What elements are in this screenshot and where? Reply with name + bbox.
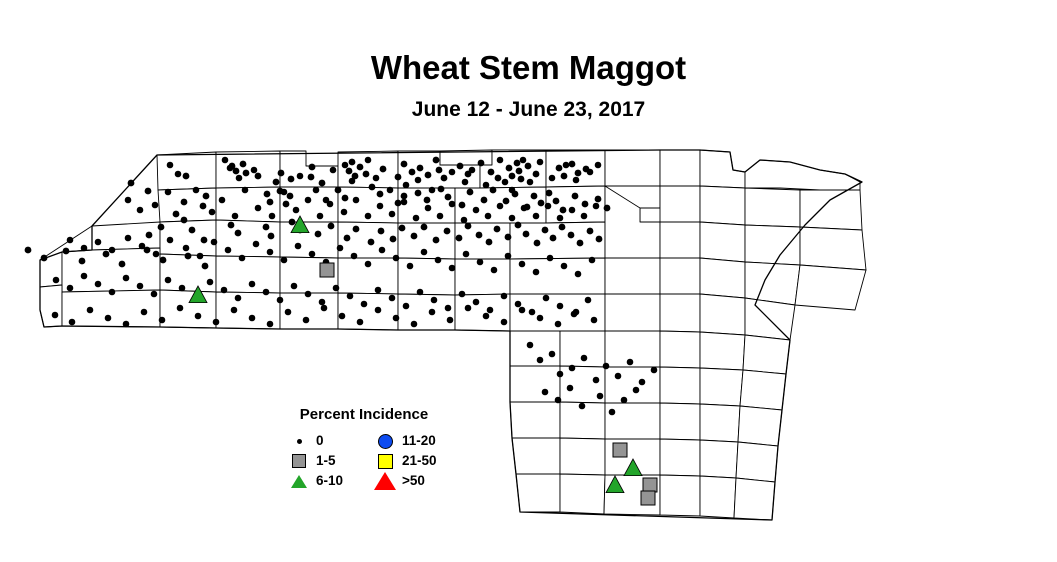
survey-point bbox=[393, 255, 400, 262]
legend-symbol-21-50 bbox=[368, 451, 402, 471]
survey-point bbox=[415, 177, 422, 184]
survey-point bbox=[222, 157, 229, 164]
survey-point bbox=[293, 207, 300, 214]
survey-point bbox=[538, 200, 545, 207]
survey-point bbox=[105, 315, 112, 322]
survey-point bbox=[567, 385, 574, 392]
survey-point bbox=[195, 313, 202, 320]
survey-point bbox=[235, 295, 242, 302]
survey-point bbox=[327, 201, 334, 208]
survey-point bbox=[495, 175, 502, 182]
legend-label-6-10: 6-10 bbox=[316, 474, 368, 488]
survey-point bbox=[569, 365, 576, 372]
survey-point bbox=[375, 287, 382, 294]
survey-point bbox=[545, 203, 552, 210]
survey-point bbox=[181, 217, 188, 224]
survey-point bbox=[342, 195, 349, 202]
survey-point bbox=[305, 197, 312, 204]
survey-point bbox=[572, 193, 579, 200]
legend-symbol-1-5 bbox=[282, 451, 316, 471]
survey-point bbox=[225, 247, 232, 254]
survey-point bbox=[200, 203, 207, 210]
survey-point bbox=[543, 295, 550, 302]
survey-point bbox=[213, 319, 220, 326]
survey-point bbox=[365, 213, 372, 220]
survey-point bbox=[550, 235, 557, 242]
states-county-map bbox=[0, 130, 1057, 562]
survey-point bbox=[425, 172, 432, 179]
survey-point bbox=[165, 277, 172, 284]
survey-point bbox=[389, 211, 396, 218]
survey-point bbox=[125, 197, 132, 204]
survey-point bbox=[95, 281, 102, 288]
survey-point bbox=[67, 237, 74, 244]
survey-point bbox=[185, 253, 192, 260]
survey-point bbox=[109, 247, 116, 254]
survey-point bbox=[393, 315, 400, 322]
survey-point bbox=[575, 170, 582, 177]
survey-point bbox=[249, 315, 256, 322]
survey-point bbox=[357, 319, 364, 326]
survey-point bbox=[236, 175, 243, 182]
survey-point bbox=[390, 236, 397, 243]
survey-point bbox=[267, 199, 274, 206]
survey-point bbox=[445, 305, 452, 312]
survey-point bbox=[553, 198, 560, 205]
survey-point bbox=[308, 174, 315, 181]
survey-point bbox=[473, 207, 480, 214]
survey-point bbox=[309, 251, 316, 258]
survey-point bbox=[519, 261, 526, 268]
survey-point bbox=[344, 235, 351, 242]
survey-point bbox=[363, 171, 370, 178]
survey-point bbox=[251, 167, 258, 174]
survey-point bbox=[357, 164, 364, 171]
survey-point bbox=[313, 187, 320, 194]
survey-point bbox=[346, 168, 353, 175]
survey-point bbox=[643, 478, 657, 492]
survey-point bbox=[604, 205, 611, 212]
survey-point bbox=[561, 263, 568, 270]
survey-point bbox=[639, 379, 646, 386]
survey-point bbox=[281, 189, 288, 196]
survey-point bbox=[413, 215, 420, 222]
survey-point bbox=[417, 289, 424, 296]
survey-point bbox=[309, 164, 316, 171]
survey-point bbox=[494, 226, 501, 233]
survey-point bbox=[321, 305, 328, 312]
survey-point bbox=[375, 307, 382, 314]
legend-symbol-11-20 bbox=[368, 431, 402, 451]
survey-point bbox=[449, 201, 456, 208]
survey-point bbox=[278, 170, 285, 177]
survey-point bbox=[209, 209, 216, 216]
survey-point bbox=[109, 289, 116, 296]
survey-point bbox=[137, 283, 144, 290]
survey-point bbox=[411, 233, 418, 240]
survey-point bbox=[365, 157, 372, 164]
survey-point bbox=[557, 215, 564, 222]
survey-point bbox=[491, 267, 498, 274]
survey-point bbox=[81, 273, 88, 280]
map-canvas bbox=[0, 130, 1057, 562]
survey-point bbox=[505, 253, 512, 260]
survey-point bbox=[197, 253, 204, 260]
survey-point bbox=[87, 307, 94, 314]
survey-point bbox=[123, 275, 130, 282]
survey-point bbox=[175, 171, 182, 178]
survey-point bbox=[128, 180, 135, 187]
survey-point bbox=[380, 166, 387, 173]
survey-point bbox=[509, 187, 516, 194]
survey-point bbox=[542, 389, 549, 396]
survey-point bbox=[339, 313, 346, 320]
survey-point bbox=[573, 309, 580, 316]
survey-point bbox=[53, 277, 60, 284]
survey-point bbox=[333, 285, 340, 292]
survey-point bbox=[373, 175, 380, 182]
survey-point bbox=[527, 179, 534, 186]
survey-point bbox=[417, 165, 424, 172]
survey-point bbox=[595, 162, 602, 169]
survey-point bbox=[337, 245, 344, 252]
survey-point bbox=[424, 197, 431, 204]
survey-point bbox=[283, 201, 290, 208]
survey-point bbox=[537, 357, 544, 364]
survey-point bbox=[377, 191, 384, 198]
survey-point bbox=[509, 215, 516, 222]
survey-point bbox=[447, 317, 454, 324]
survey-point bbox=[151, 291, 158, 298]
survey-point bbox=[582, 201, 589, 208]
survey-point bbox=[505, 234, 512, 241]
survey-point bbox=[433, 157, 440, 164]
survey-point bbox=[465, 223, 472, 230]
survey-point bbox=[533, 171, 540, 178]
survey-point bbox=[264, 191, 271, 198]
survey-point bbox=[69, 319, 76, 326]
survey-point bbox=[179, 285, 186, 292]
survey-point bbox=[165, 189, 172, 196]
survey-point bbox=[559, 224, 566, 231]
survey-point bbox=[243, 170, 250, 177]
survey-point bbox=[347, 293, 354, 300]
survey-point bbox=[203, 193, 210, 200]
survey-point bbox=[547, 255, 554, 262]
survey-point bbox=[575, 271, 582, 278]
survey-point bbox=[555, 397, 562, 404]
survey-point bbox=[255, 205, 262, 212]
survey-point bbox=[273, 179, 280, 186]
survey-point bbox=[431, 297, 438, 304]
survey-point bbox=[160, 257, 167, 264]
survey-point bbox=[255, 173, 262, 180]
survey-point bbox=[95, 239, 102, 246]
survey-point bbox=[449, 169, 456, 176]
legend-title: Percent Incidence bbox=[284, 406, 444, 423]
survey-point bbox=[497, 157, 504, 164]
survey-point bbox=[581, 355, 588, 362]
green-triangle-icon bbox=[291, 475, 307, 488]
survey-point bbox=[351, 253, 358, 260]
survey-point bbox=[436, 167, 443, 174]
survey-point bbox=[477, 259, 484, 266]
survey-point bbox=[563, 162, 570, 169]
survey-point bbox=[407, 263, 414, 270]
legend-symbol-6-10 bbox=[282, 471, 316, 491]
survey-point bbox=[595, 196, 602, 203]
survey-point bbox=[549, 175, 556, 182]
survey-point bbox=[593, 203, 600, 210]
survey-point bbox=[527, 342, 534, 349]
survey-point bbox=[328, 223, 335, 230]
survey-point bbox=[365, 261, 372, 268]
page-title: Wheat Stem Maggot bbox=[0, 50, 1057, 86]
survey-point bbox=[287, 193, 294, 200]
survey-point bbox=[437, 213, 444, 220]
survey-point bbox=[581, 213, 588, 220]
survey-point bbox=[485, 213, 492, 220]
survey-point bbox=[183, 173, 190, 180]
survey-point bbox=[497, 203, 504, 210]
survey-point bbox=[542, 227, 549, 234]
survey-point bbox=[478, 160, 485, 167]
survey-point bbox=[139, 243, 146, 250]
black-dot-icon bbox=[297, 439, 302, 444]
survey-point bbox=[549, 351, 556, 358]
legend-label-1-5: 1-5 bbox=[316, 454, 368, 468]
survey-point bbox=[521, 205, 528, 212]
survey-point bbox=[67, 285, 74, 292]
survey-point bbox=[232, 213, 239, 220]
survey-point bbox=[534, 240, 541, 247]
survey-point bbox=[435, 257, 442, 264]
survey-point bbox=[473, 299, 480, 306]
survey-point bbox=[201, 237, 208, 244]
survey-point bbox=[560, 207, 567, 214]
survey-point bbox=[490, 187, 497, 194]
survey-point bbox=[281, 257, 288, 264]
survey-point bbox=[409, 169, 416, 176]
legend-label-gt50: >50 bbox=[402, 474, 452, 488]
survey-point bbox=[349, 159, 356, 166]
survey-point bbox=[159, 317, 166, 324]
survey-point bbox=[516, 168, 523, 175]
survey-point bbox=[509, 173, 516, 180]
survey-point bbox=[295, 243, 302, 250]
survey-point bbox=[167, 162, 174, 169]
survey-point bbox=[267, 321, 274, 328]
survey-point bbox=[487, 307, 494, 314]
survey-point bbox=[303, 317, 310, 324]
survey-point bbox=[189, 227, 196, 234]
survey-point bbox=[221, 287, 228, 294]
survey-point bbox=[533, 213, 540, 220]
survey-point bbox=[399, 225, 406, 232]
survey-point bbox=[228, 222, 235, 229]
survey-point bbox=[429, 187, 436, 194]
survey-point bbox=[476, 232, 483, 239]
survey-point bbox=[488, 169, 495, 176]
survey-point bbox=[621, 397, 628, 404]
survey-point bbox=[531, 193, 538, 200]
survey-point bbox=[403, 182, 410, 189]
survey-point bbox=[319, 180, 326, 187]
survey-point bbox=[615, 373, 622, 380]
survey-point bbox=[81, 245, 88, 252]
survey-point bbox=[369, 184, 376, 191]
survey-point bbox=[444, 228, 451, 235]
survey-point bbox=[202, 263, 209, 270]
survey-point bbox=[227, 165, 234, 172]
survey-point bbox=[379, 247, 386, 254]
survey-point bbox=[587, 169, 594, 176]
survey-point bbox=[573, 177, 580, 184]
survey-point bbox=[469, 167, 476, 174]
survey-point bbox=[267, 249, 274, 256]
survey-point bbox=[462, 179, 469, 186]
survey-point bbox=[341, 209, 348, 216]
survey-point bbox=[349, 178, 356, 185]
survey-point bbox=[441, 175, 448, 182]
survey-point bbox=[378, 228, 385, 235]
survey-point bbox=[235, 230, 242, 237]
survey-point bbox=[633, 387, 640, 394]
survey-point bbox=[240, 161, 247, 168]
survey-point bbox=[219, 197, 226, 204]
survey-point bbox=[425, 205, 432, 212]
survey-point bbox=[315, 231, 322, 238]
survey-point bbox=[593, 377, 600, 384]
survey-point bbox=[389, 295, 396, 302]
survey-point bbox=[231, 307, 238, 314]
survey-point bbox=[461, 217, 468, 224]
survey-point bbox=[233, 168, 240, 175]
survey-point bbox=[463, 251, 470, 258]
survey-point bbox=[289, 219, 296, 226]
survey-point bbox=[368, 239, 375, 246]
survey-point bbox=[291, 283, 298, 290]
survey-point bbox=[253, 241, 260, 248]
survey-point bbox=[486, 239, 493, 246]
survey-point bbox=[515, 222, 522, 229]
survey-point bbox=[403, 303, 410, 310]
survey-point bbox=[211, 239, 218, 246]
survey-point bbox=[207, 279, 214, 286]
survey-point bbox=[596, 236, 603, 243]
survey-point bbox=[285, 309, 292, 316]
yellow-square-icon bbox=[378, 454, 393, 469]
survey-point bbox=[481, 197, 488, 204]
survey-point bbox=[603, 363, 610, 370]
survey-point bbox=[523, 231, 530, 238]
survey-point bbox=[483, 313, 490, 320]
survey-point bbox=[557, 371, 564, 378]
survey-point bbox=[568, 232, 575, 239]
survey-point bbox=[533, 269, 540, 276]
survey-point bbox=[537, 159, 544, 166]
survey-point bbox=[514, 160, 521, 167]
gray-square-icon bbox=[292, 454, 306, 468]
survey-point bbox=[555, 321, 562, 328]
survey-point bbox=[395, 174, 402, 181]
survey-point bbox=[445, 194, 452, 201]
survey-point bbox=[125, 235, 132, 242]
survey-point bbox=[483, 182, 490, 189]
survey-point bbox=[537, 315, 544, 322]
survey-point bbox=[177, 305, 184, 312]
survey-point bbox=[529, 309, 536, 316]
survey-point bbox=[627, 359, 634, 366]
legend-label-0: 0 bbox=[316, 434, 368, 448]
survey-point bbox=[342, 162, 349, 169]
survey-point bbox=[395, 200, 402, 207]
survey-point bbox=[146, 232, 153, 239]
survey-point bbox=[585, 297, 592, 304]
blue-circle-icon bbox=[378, 434, 393, 449]
survey-point bbox=[525, 163, 532, 170]
survey-point bbox=[361, 301, 368, 308]
survey-point bbox=[561, 173, 568, 180]
survey-point bbox=[421, 224, 428, 231]
survey-point bbox=[520, 157, 527, 164]
survey-point bbox=[269, 213, 276, 220]
legend-label-21-50: 21-50 bbox=[402, 454, 452, 468]
survey-point bbox=[401, 199, 408, 206]
survey-point bbox=[546, 190, 553, 197]
survey-point bbox=[63, 248, 70, 255]
survey-point bbox=[320, 263, 334, 277]
survey-point bbox=[569, 161, 576, 168]
survey-point bbox=[589, 257, 596, 264]
survey-point bbox=[353, 197, 360, 204]
survey-point bbox=[421, 249, 428, 256]
survey-point bbox=[587, 228, 594, 235]
survey-point bbox=[145, 188, 152, 195]
survey-point bbox=[335, 187, 342, 194]
survey-point bbox=[242, 187, 249, 194]
survey-point bbox=[173, 211, 180, 218]
survey-point bbox=[297, 173, 304, 180]
survey-point bbox=[518, 176, 525, 183]
survey-point bbox=[377, 203, 384, 210]
survey-point bbox=[641, 491, 655, 505]
survey-point bbox=[183, 245, 190, 252]
red-triangle-icon bbox=[374, 472, 396, 490]
survey-point bbox=[591, 317, 598, 324]
survey-point bbox=[158, 224, 165, 231]
survey-point bbox=[119, 261, 126, 268]
survey-point bbox=[41, 255, 48, 262]
survey-point bbox=[438, 186, 445, 193]
survey-point bbox=[501, 319, 508, 326]
survey-point bbox=[387, 187, 394, 194]
survey-point bbox=[239, 255, 246, 262]
survey-point bbox=[465, 305, 472, 312]
survey-point bbox=[411, 321, 418, 328]
survey-point bbox=[429, 309, 436, 316]
survey-point bbox=[167, 237, 174, 244]
survey-point bbox=[577, 240, 584, 247]
survey-point bbox=[141, 309, 148, 316]
survey-point bbox=[123, 321, 130, 328]
survey-point bbox=[569, 207, 576, 214]
survey-point bbox=[319, 299, 326, 306]
legend: Percent Incidence 0 11-20 1-5 21-50 6-10… bbox=[282, 406, 452, 504]
survey-point bbox=[268, 233, 275, 240]
survey-point bbox=[288, 176, 295, 183]
survey-point bbox=[449, 265, 456, 272]
